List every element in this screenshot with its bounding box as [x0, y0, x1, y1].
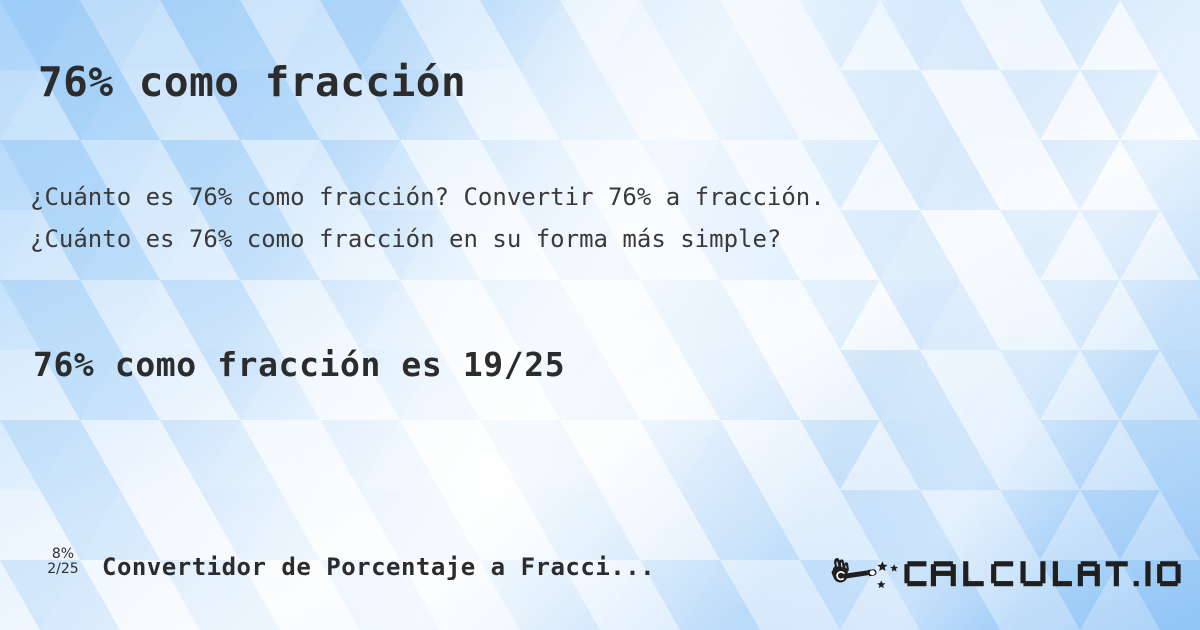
hand-magic-wand-icon	[832, 558, 898, 588]
page-title: 76% como fracción	[38, 58, 466, 106]
badge-fraction: 2/25	[36, 562, 90, 577]
badge-percent: 8%	[36, 547, 90, 562]
page-subtitle: ¿Cuánto es 76% como fracción? Convertir …	[30, 176, 825, 260]
subtitle-line-1: ¿Cuánto es 76% como fracción? Convertir …	[30, 176, 825, 218]
share-card: 76% como fracción ¿Cuánto es 76% como fr…	[0, 0, 1200, 630]
tool-name: Convertidor de Porcentaje a Fracci...	[102, 553, 655, 581]
footer-bar: 8% 2/25 Convertidor de Porcentaje a Frac…	[0, 545, 1200, 605]
logo-wordmark	[904, 561, 1180, 586]
answer-statement: 76% como fracción es 19/25	[33, 345, 565, 384]
content-layer: 76% como fracción ¿Cuánto es 76% como fr…	[0, 0, 1200, 630]
subtitle-line-2: ¿Cuánto es 76% como fracción en su forma…	[30, 218, 825, 260]
percent-fraction-badge: 8% 2/25	[36, 547, 90, 577]
calculatio-logo[interactable]	[828, 547, 1188, 599]
